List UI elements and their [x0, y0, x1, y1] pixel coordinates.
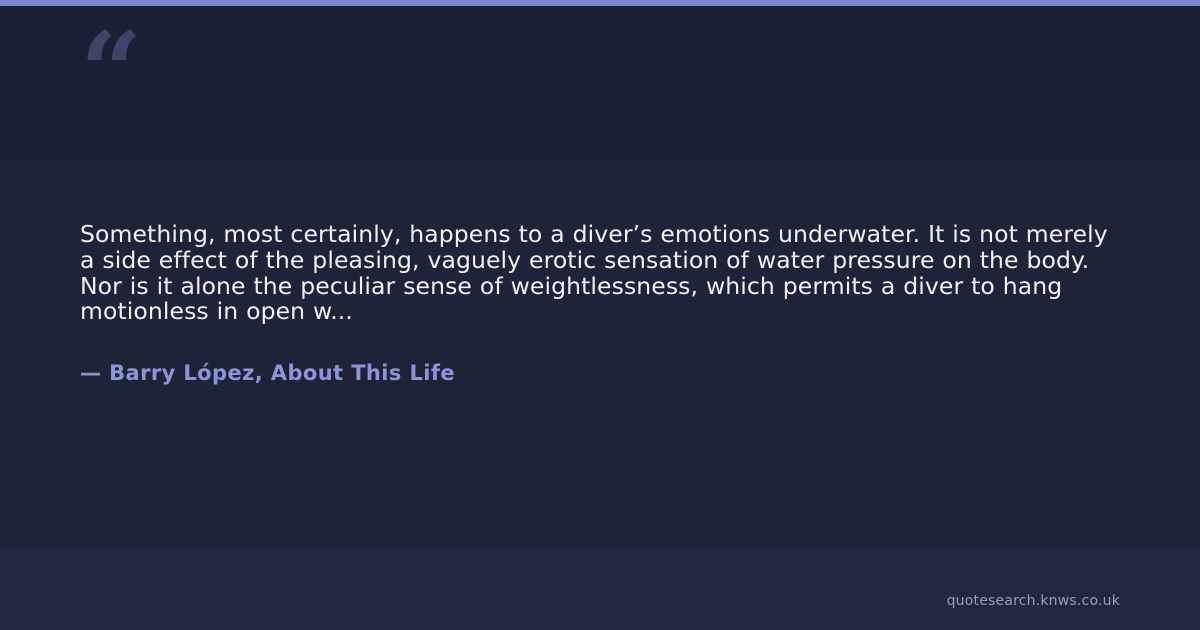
quote-content: Something, most certainly, happens to a …	[80, 222, 1120, 386]
quote-attribution: — Barry López, About This Life	[80, 325, 1120, 386]
quote-card: “ Something, most certainly, happens to …	[0, 0, 1200, 630]
site-url-label: quotesearch.knws.co.uk	[947, 594, 1120, 608]
open-quote-icon: “	[80, 18, 140, 126]
quote-text: Something, most certainly, happens to a …	[80, 222, 1120, 325]
top-accent-bar	[0, 0, 1200, 6]
